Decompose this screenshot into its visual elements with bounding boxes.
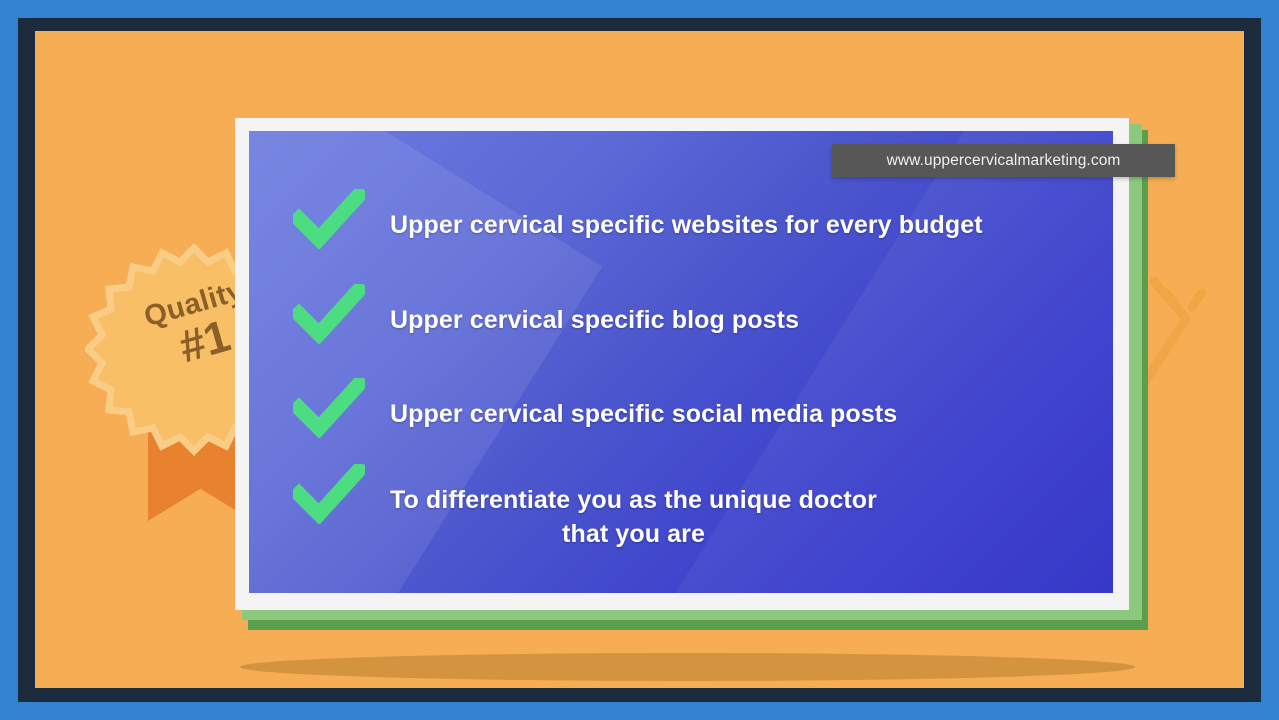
- check-icon: [293, 284, 365, 344]
- list-item: Upper cervical specific social media pos…: [293, 382, 897, 438]
- slide-body: Upper cervical specific websites for eve…: [249, 131, 1113, 593]
- check-icon: [293, 378, 365, 438]
- website-url-banner: www.uppercervicalmarketing.com: [832, 144, 1175, 177]
- list-item-label: Upper cervical specific websites for eve…: [390, 193, 983, 243]
- website-url-text: www.uppercervicalmarketing.com: [887, 152, 1121, 170]
- check-icon: [293, 464, 365, 524]
- list-item-label: Upper cervical specific blog posts: [390, 288, 799, 338]
- check-icon: [293, 189, 365, 249]
- list-item: To differentiate you as the unique docto…: [293, 468, 877, 551]
- list-item-label: Upper cervical specific social media pos…: [390, 382, 897, 432]
- orange-canvas: Quality #1 Upper cervical specific websi…: [35, 31, 1244, 688]
- list-item: Upper cervical specific websites for eve…: [293, 193, 983, 249]
- slide-screenshot: Quality #1 Upper cervical specific websi…: [0, 0, 1279, 720]
- card-ground-shadow: [240, 653, 1135, 681]
- list-item: Upper cervical specific blog posts: [293, 288, 799, 344]
- bullet-list: Upper cervical specific websites for eve…: [249, 131, 1113, 593]
- list-item-label: To differentiate you as the unique docto…: [390, 468, 877, 551]
